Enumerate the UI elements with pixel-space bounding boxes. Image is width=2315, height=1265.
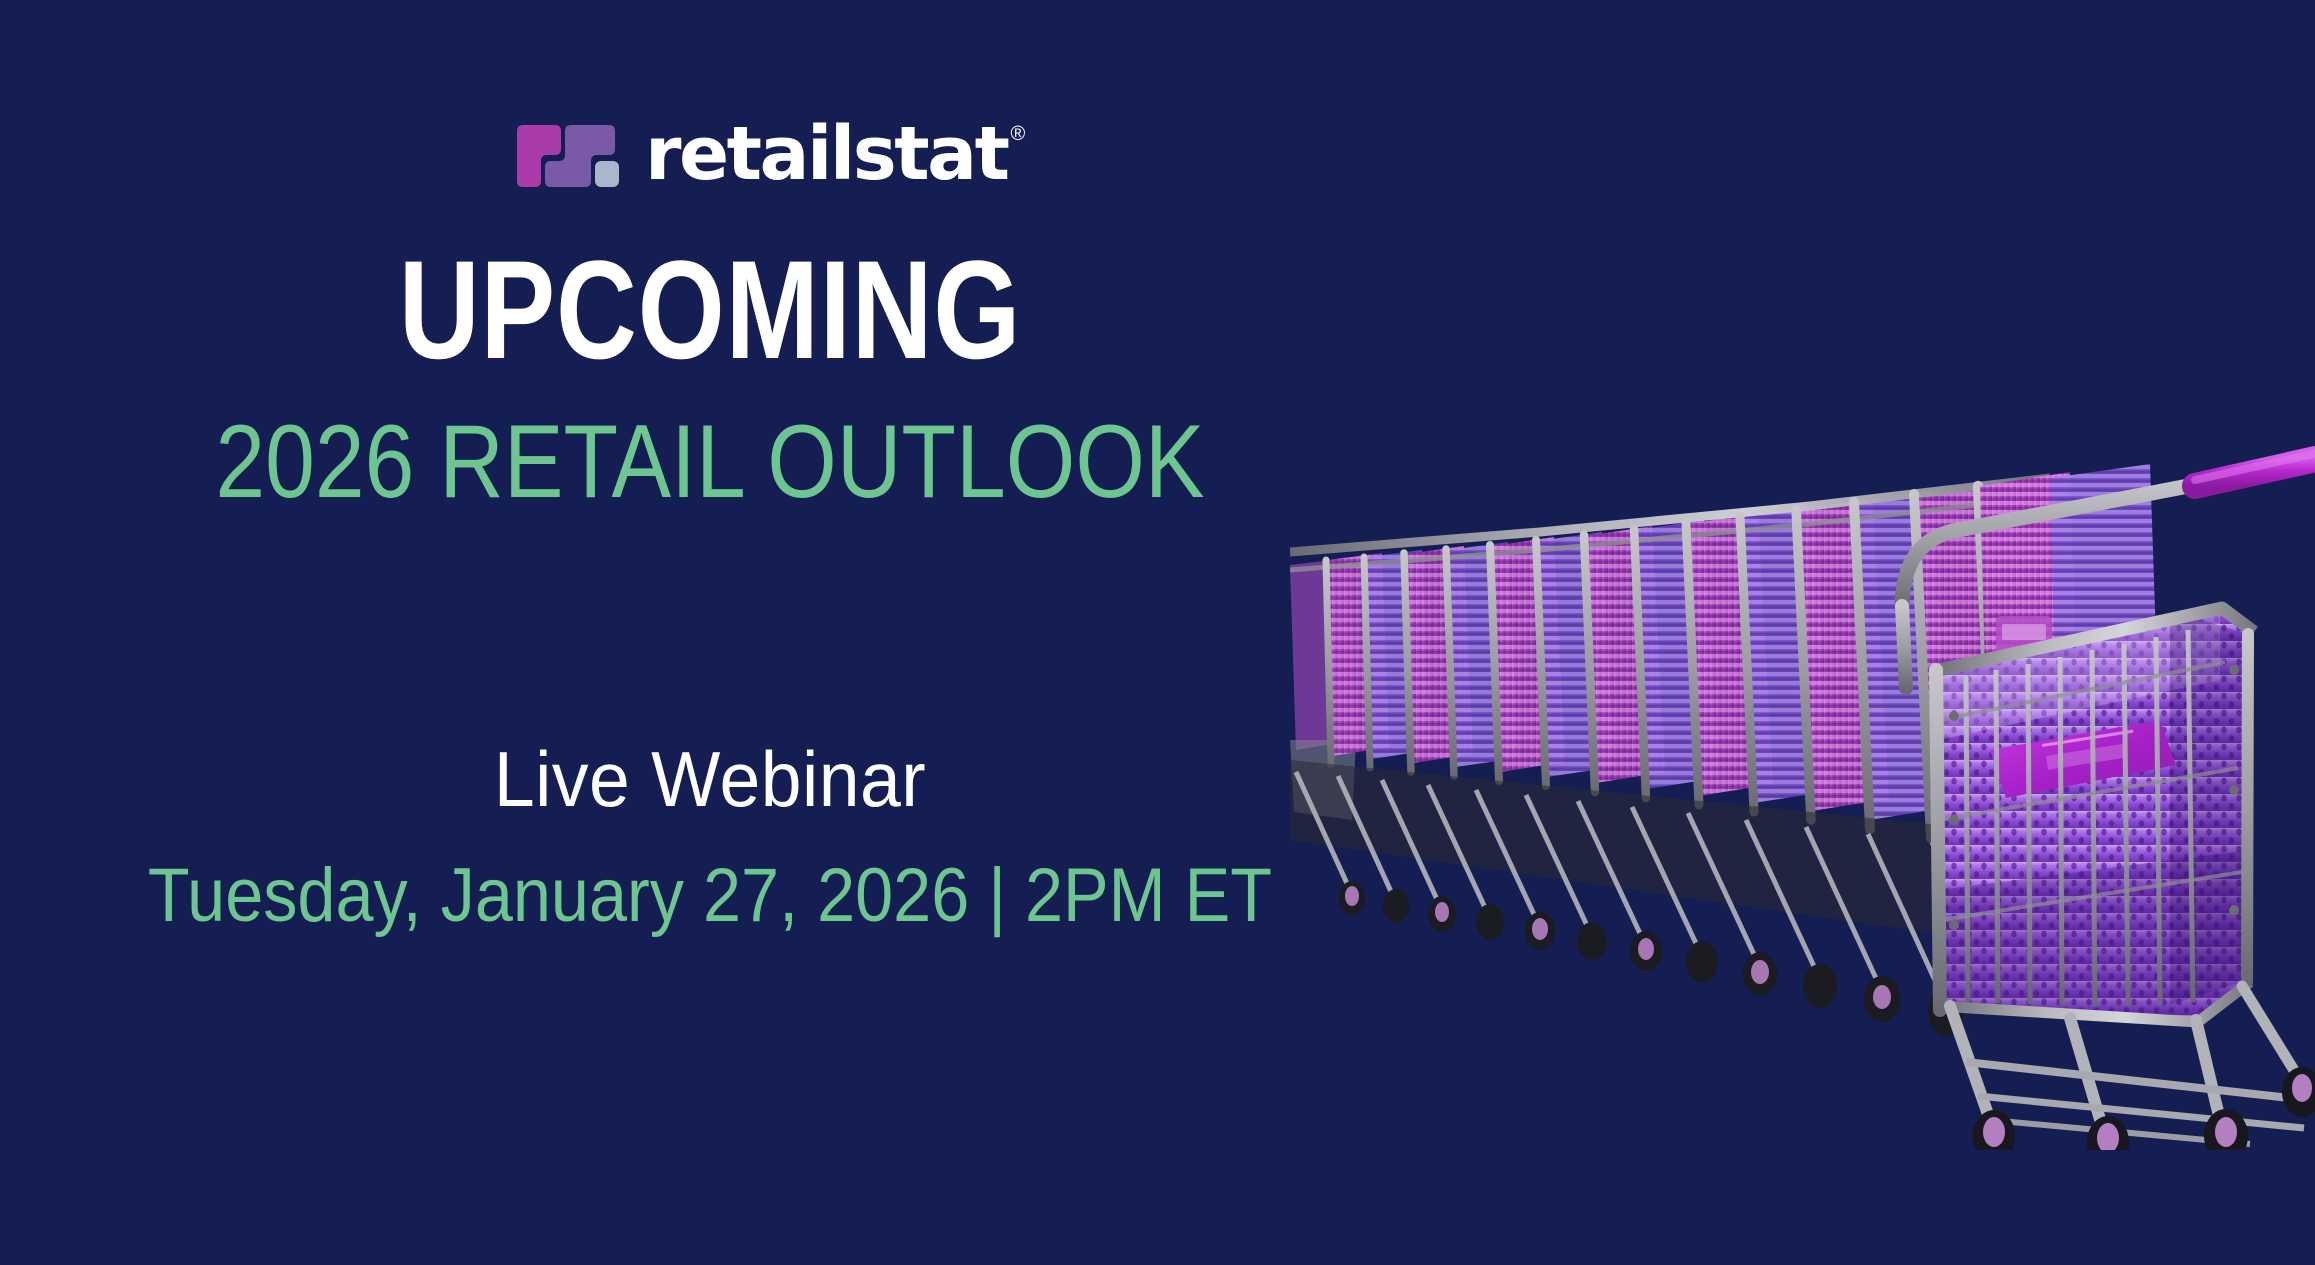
logo-wordmark: retailstat <box>645 120 1007 188</box>
retailstat-logo-mark-icon <box>513 123 621 189</box>
promotional-banner: retailstat ® UPCOMING 2026 RETAIL OUTLOO… <box>0 0 2315 1265</box>
retailstat-logo[interactable]: retailstat ® <box>513 120 1025 189</box>
shopping-carts-photo <box>1290 420 2315 1150</box>
front-cart <box>1902 453 2315 1150</box>
cart-undercarriage <box>1950 986 2315 1150</box>
event-datetime: Tuesday, January 27, 2026 | 2PM ET <box>71 858 1349 934</box>
cart-handle <box>1902 453 2315 688</box>
event-format: Live Webinar <box>43 740 1378 818</box>
page-title: 2026 RETAIL OUTLOOK <box>99 410 1320 514</box>
banner-content: retailstat ® UPCOMING 2026 RETAIL OUTLOO… <box>0 0 1420 1265</box>
eyebrow-heading: UPCOMING <box>142 240 1278 380</box>
child-seat-flap <box>1990 720 2176 798</box>
cart-side-panel <box>1980 464 2164 882</box>
registered-trademark-icon: ® <box>1010 124 1025 144</box>
